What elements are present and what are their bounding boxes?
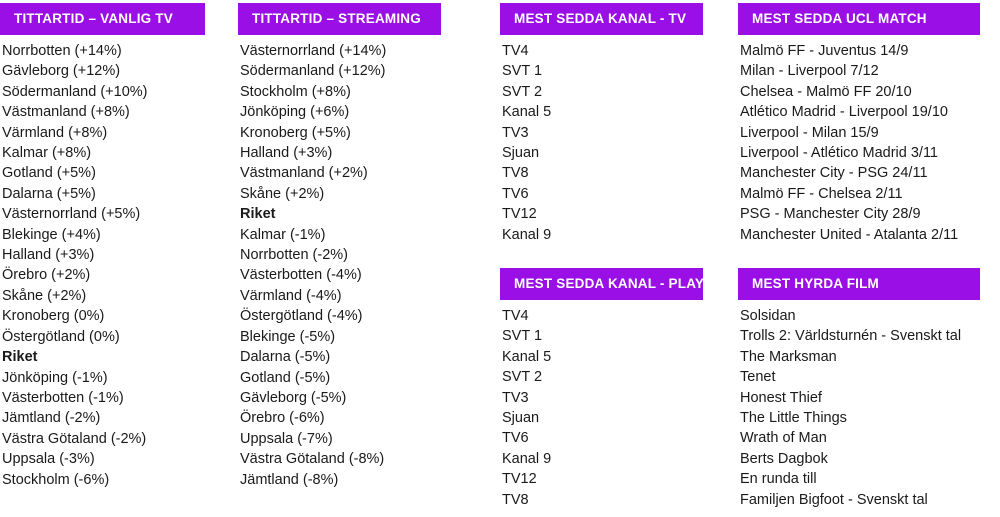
- list-item: Jämtland (-8%): [240, 470, 441, 490]
- list-item: Sjuan: [502, 143, 703, 163]
- panel-list-tittartid-streaming: Västernorrland (+14%)Södermanland (+12%)…: [238, 35, 441, 490]
- list-item: Malmö FF - Juventus 14/9: [740, 41, 980, 61]
- list-item: SVT 2: [502, 82, 703, 102]
- list-item: TV4: [502, 306, 703, 326]
- panel-header-tittartid-streaming: TITTARTID – STREAMING: [238, 3, 441, 35]
- list-item: Örebro (-6%): [240, 408, 441, 428]
- list-item: Atlético Madrid - Liverpool 19/10: [740, 102, 980, 122]
- list-item: Blekinge (-5%): [240, 327, 441, 347]
- list-item: Halland (+3%): [240, 143, 441, 163]
- list-item: Uppsala (-3%): [2, 449, 205, 469]
- list-item: PSG - Manchester City 28/9: [740, 204, 980, 224]
- list-item: Värmland (+8%): [2, 123, 205, 143]
- list-item: Wrath of Man: [740, 428, 980, 448]
- list-item: Västernorrland (+5%): [2, 204, 205, 224]
- list-item: Familjen Bigfoot - Svenskt tal: [740, 490, 980, 510]
- list-item: Liverpool - Milan 15/9: [740, 123, 980, 143]
- list-item: Riket: [2, 347, 205, 367]
- list-item: Södermanland (+10%): [2, 82, 205, 102]
- list-item: SVT 1: [502, 326, 703, 346]
- list-item: Kronoberg (0%): [2, 306, 205, 326]
- panel-mest-sedda-ucl-match: MEST SEDDA UCL MATCH Malmö FF - Juventus…: [738, 3, 980, 245]
- list-item: Skåne (+2%): [2, 286, 205, 306]
- list-item: Kronoberg (+5%): [240, 123, 441, 143]
- list-item: Jönköping (-1%): [2, 368, 205, 388]
- list-item: Sjuan: [502, 408, 703, 428]
- list-item: Norrbotten (+14%): [2, 41, 205, 61]
- list-item: Uppsala (-7%): [240, 429, 441, 449]
- list-item: Malmö FF - Chelsea 2/11: [740, 184, 980, 204]
- list-item: TV8: [502, 163, 703, 183]
- list-item: Kanal 9: [502, 449, 703, 469]
- list-item: Gotland (-5%): [240, 368, 441, 388]
- list-item: TV6: [502, 428, 703, 448]
- list-item: Jönköping (+6%): [240, 102, 441, 122]
- list-item: Gävleborg (-5%): [240, 388, 441, 408]
- list-item: Dalarna (-5%): [240, 347, 441, 367]
- list-item: Manchester City - PSG 24/11: [740, 163, 980, 183]
- list-item: Kalmar (-1%): [240, 225, 441, 245]
- list-item: Tenet: [740, 367, 980, 387]
- list-item: Kanal 9: [502, 225, 703, 245]
- list-item: Västerbotten (-4%): [240, 265, 441, 285]
- panel-header-tittartid-vanlig-tv: TITTARTID – VANLIG TV: [0, 3, 205, 35]
- panel-list-mest-sedda-ucl-match: Malmö FF - Juventus 14/9Milan - Liverpoo…: [738, 35, 980, 245]
- list-item: Gotland (+5%): [2, 163, 205, 183]
- list-item: Chelsea - Malmö FF 20/10: [740, 82, 980, 102]
- panel-mest-hyrda-film: MEST HYRDA FILM SolsidanTrolls 2: Världs…: [738, 268, 980, 510]
- panel-header-mest-sedda-ucl-match: MEST SEDDA UCL MATCH: [738, 3, 980, 35]
- list-item: Norrbotten (-2%): [240, 245, 441, 265]
- list-item: Kanal 5: [502, 347, 703, 367]
- list-item: Trolls 2: Världsturnén - Svenskt tal: [740, 326, 980, 346]
- list-item: Västra Götaland (-8%): [240, 449, 441, 469]
- panel-mest-sedda-kanal-play: MEST SEDDA KANAL - PLAY TV4SVT 1Kanal 5S…: [500, 268, 703, 510]
- list-item: Blekinge (+4%): [2, 225, 205, 245]
- panel-mest-sedda-kanal-tv: MEST SEDDA KANAL - TV TV4SVT 1SVT 2Kanal…: [500, 3, 703, 245]
- list-item: SVT 2: [502, 367, 703, 387]
- list-item: TV3: [502, 123, 703, 143]
- list-item: Honest Thief: [740, 388, 980, 408]
- panel-list-mest-sedda-kanal-play: TV4SVT 1Kanal 5SVT 2TV3SjuanTV6Kanal 9TV…: [500, 300, 703, 510]
- panel-list-mest-sedda-kanal-tv: TV4SVT 1SVT 2Kanal 5TV3SjuanTV8TV6TV12Ka…: [500, 35, 703, 245]
- list-item: Örebro (+2%): [2, 265, 205, 285]
- list-item: The Little Things: [740, 408, 980, 428]
- list-item: Västra Götaland (-2%): [2, 429, 205, 449]
- list-item: Västerbotten (-1%): [2, 388, 205, 408]
- list-item: Västernorrland (+14%): [240, 41, 441, 61]
- list-item: Liverpool - Atlético Madrid 3/11: [740, 143, 980, 163]
- list-item: TV8: [502, 490, 703, 510]
- list-item: Stockholm (-6%): [2, 470, 205, 490]
- panel-tittartid-streaming: TITTARTID – STREAMING Västernorrland (+1…: [238, 3, 441, 490]
- list-item: Berts Dagbok: [740, 449, 980, 469]
- list-item: Kalmar (+8%): [2, 143, 205, 163]
- list-item: Västmanland (+2%): [240, 163, 441, 183]
- list-item: SVT 1: [502, 61, 703, 81]
- list-item: Manchester United - Atalanta 2/11: [740, 225, 980, 245]
- list-item: Kanal 5: [502, 102, 703, 122]
- list-item: TV3: [502, 388, 703, 408]
- list-item: Riket: [240, 204, 441, 224]
- list-item: En runda till: [740, 469, 980, 489]
- list-item: Gävleborg (+12%): [2, 61, 205, 81]
- panel-header-mest-sedda-kanal-tv: MEST SEDDA KANAL - TV: [500, 3, 703, 35]
- panel-header-mest-hyrda-film: MEST HYRDA FILM: [738, 268, 980, 300]
- panel-list-tittartid-vanlig-tv: Norrbotten (+14%)Gävleborg (+12%)Söderma…: [0, 35, 205, 490]
- list-item: Västmanland (+8%): [2, 102, 205, 122]
- list-item: TV12: [502, 204, 703, 224]
- list-item: TV12: [502, 469, 703, 489]
- list-item: TV6: [502, 184, 703, 204]
- list-item: Värmland (-4%): [240, 286, 441, 306]
- list-item: Skåne (+2%): [240, 184, 441, 204]
- panel-tittartid-vanlig-tv: TITTARTID – VANLIG TV Norrbotten (+14%)G…: [0, 3, 205, 490]
- list-item: Östergötland (-4%): [240, 306, 441, 326]
- list-item: Stockholm (+8%): [240, 82, 441, 102]
- list-item: The Marksman: [740, 347, 980, 367]
- list-item: Milan - Liverpool 7/12: [740, 61, 980, 81]
- panel-list-mest-hyrda-film: SolsidanTrolls 2: Världsturnén - Svenskt…: [738, 300, 980, 510]
- list-item: Jämtland (-2%): [2, 408, 205, 428]
- list-item: TV4: [502, 41, 703, 61]
- list-item: Östergötland (0%): [2, 327, 205, 347]
- list-item: Dalarna (+5%): [2, 184, 205, 204]
- list-item: Halland (+3%): [2, 245, 205, 265]
- panel-header-mest-sedda-kanal-play: MEST SEDDA KANAL - PLAY: [500, 268, 703, 300]
- list-item: Solsidan: [740, 306, 980, 326]
- list-item: Södermanland (+12%): [240, 61, 441, 81]
